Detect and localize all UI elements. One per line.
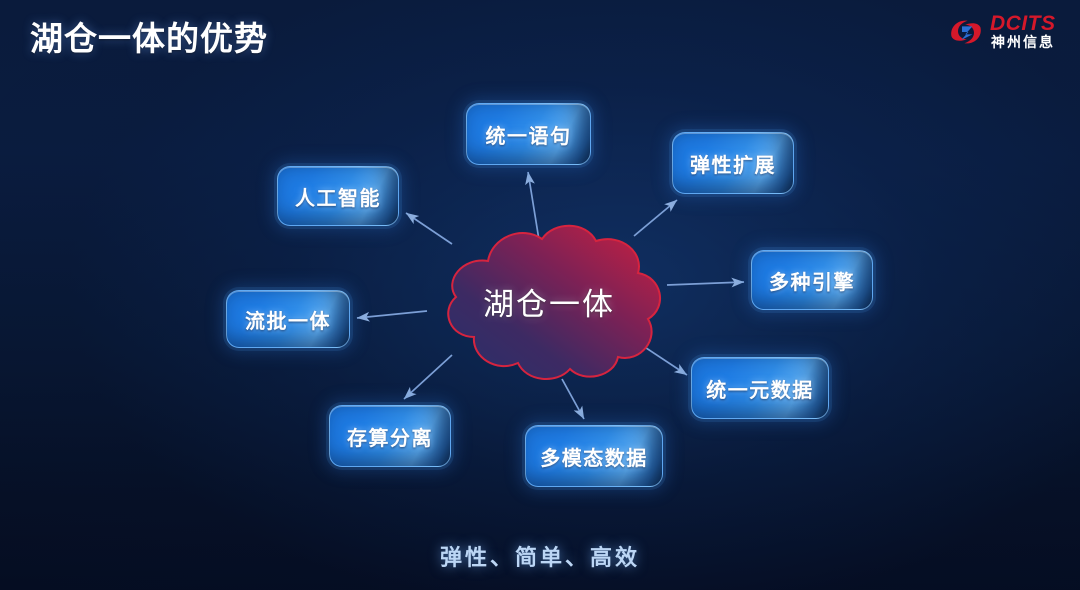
node-ai[interactable]: 人工智能 [277,166,399,226]
node-unified-metadata[interactable]: 统一元数据 [691,357,829,419]
node-unified-syntax[interactable]: 统一语句 [466,103,591,165]
node-label: 弹性扩展 [690,149,776,178]
node-label: 人工智能 [295,182,381,211]
node-multimodal-data[interactable]: 多模态数据 [525,425,663,487]
slide-canvas: 湖仓一体的优势 DCITS 神州信息 [0,0,1080,590]
connector-to-stream-batch [357,311,427,318]
node-label: 统一语句 [486,120,572,149]
center-cloud: 湖仓一体 [418,215,680,387]
node-label: 统一元数据 [706,374,814,403]
node-multi-engine[interactable]: 多种引擎 [751,250,873,310]
cloud-label: 湖仓一体 [418,215,680,387]
advantages-diagram: 湖仓一体 统一语句 弹性扩展 人工智能 多种引擎 流批一体 统一元数据 存算分离… [0,0,1080,590]
node-label: 流批一体 [245,305,331,334]
footer-caption: 弹性、简单、高效 [0,540,1080,572]
node-label: 存算分离 [347,422,433,451]
node-stream-batch[interactable]: 流批一体 [226,290,350,348]
node-elastic-scaling[interactable]: 弹性扩展 [672,132,794,194]
node-storage-compute[interactable]: 存算分离 [329,405,451,467]
node-label: 多模态数据 [540,442,648,471]
node-label: 多种引擎 [769,266,855,295]
